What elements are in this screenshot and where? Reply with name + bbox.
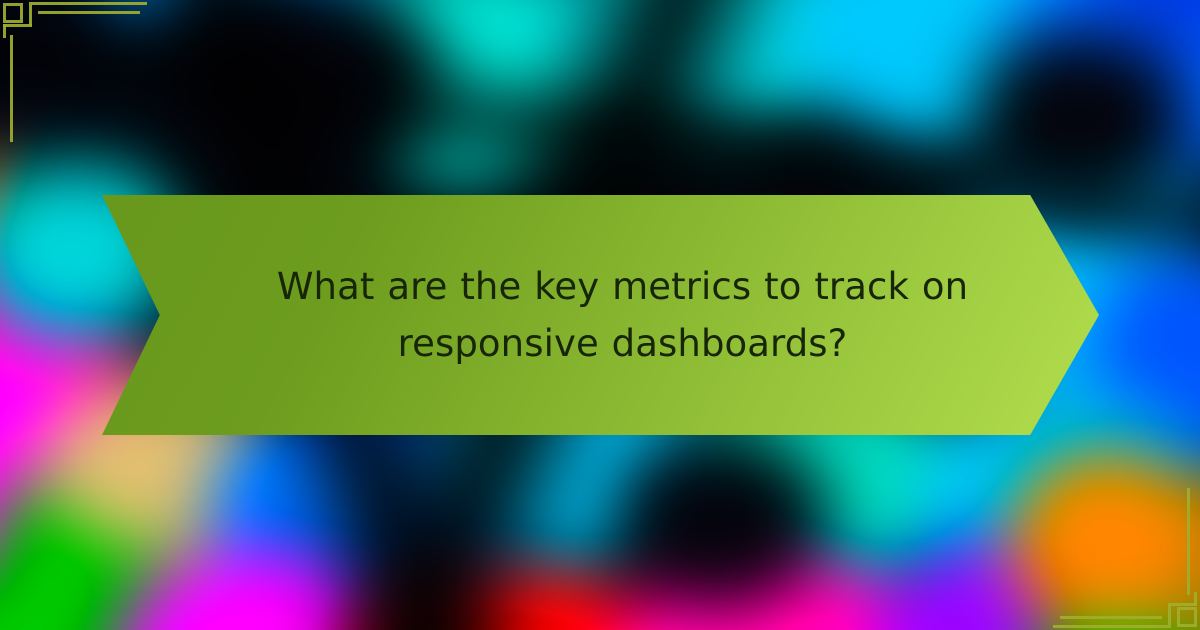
- corner-line-joint-horizontal: [1168, 603, 1197, 606]
- corner-line-corner-joint: [1168, 604, 1171, 628]
- question-banner: What are the key metrics to track on res…: [102, 195, 1099, 435]
- corner-line-horizontal-inner: [1060, 616, 1162, 619]
- corner-line-vertical-outer: [1194, 592, 1197, 606]
- corner-line-horizontal-outer: [1053, 625, 1168, 628]
- corner-bracket-bottom-right: [1000, 470, 1200, 630]
- screenshot-canvas: What are the key metrics to track on res…: [0, 0, 1200, 630]
- corner-line-horizontal-outer: [32, 2, 147, 5]
- question-line-2: responsive dashboards?: [263, 315, 983, 372]
- corner-line-vertical-outer: [3, 24, 6, 38]
- corner-line-corner-joint: [29, 2, 32, 26]
- question-line-1: What are the key metrics to track on: [263, 258, 983, 315]
- corner-line-horizontal-inner: [38, 11, 140, 14]
- question-text: What are the key metrics to track on res…: [263, 258, 983, 373]
- corner-square-icon: [3, 3, 23, 23]
- corner-line-vertical-long: [10, 35, 13, 142]
- corner-bracket-top-left: [0, 0, 200, 160]
- corner-square-icon: [1177, 607, 1197, 627]
- corner-line-joint-horizontal: [3, 24, 32, 27]
- corner-line-vertical-long: [1187, 488, 1190, 595]
